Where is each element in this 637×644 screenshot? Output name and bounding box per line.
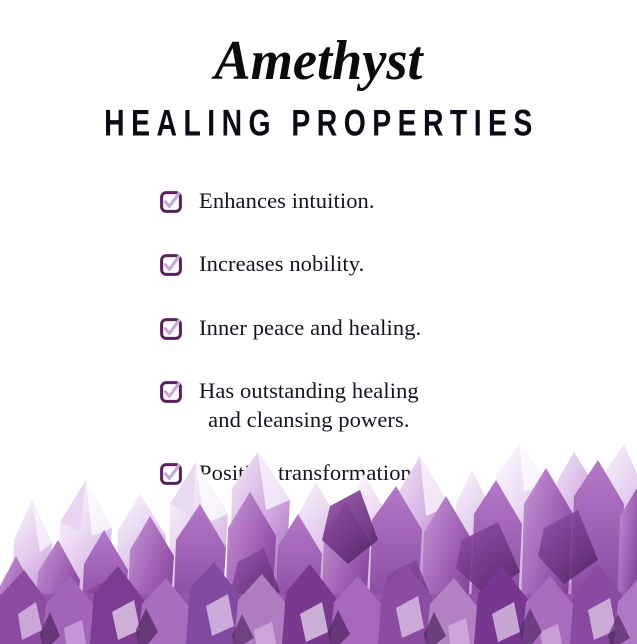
list-item[interactable]: Enhances intuition.: [0, 186, 637, 215]
checked-checkbox-icon[interactable]: [160, 318, 182, 340]
healing-properties-list: Enhances intuition. Increases nobility.: [0, 186, 637, 488]
checked-checkbox-icon[interactable]: [160, 463, 182, 485]
poster-header: Amethyst HEALING PROPERTIES: [0, 0, 637, 137]
list-item-label: Inner peace and healing.: [199, 313, 421, 342]
list-item[interactable]: Has outstanding healing and cleansing po…: [0, 376, 637, 435]
list-item-label: Positive transformation.: [199, 458, 418, 487]
checked-checkbox-icon[interactable]: [160, 191, 182, 213]
list-item-label: Enhances intuition.: [199, 186, 375, 215]
poster-canvas: Amethyst HEALING PROPERTIES Enhances int…: [0, 0, 637, 644]
list-item[interactable]: Positive transformation.: [0, 458, 637, 487]
page-title: Amethyst: [10, 32, 628, 90]
list-item-label: Increases nobility.: [199, 249, 364, 278]
list-item[interactable]: Inner peace and healing.: [0, 313, 637, 342]
list-item[interactable]: Increases nobility.: [0, 249, 637, 278]
checked-checkbox-icon[interactable]: [160, 254, 182, 276]
list-item-label: Has outstanding healing and cleansing po…: [199, 376, 419, 435]
page-subtitle: HEALING PROPERTIES: [45, 104, 593, 141]
checked-checkbox-icon[interactable]: [160, 381, 182, 403]
